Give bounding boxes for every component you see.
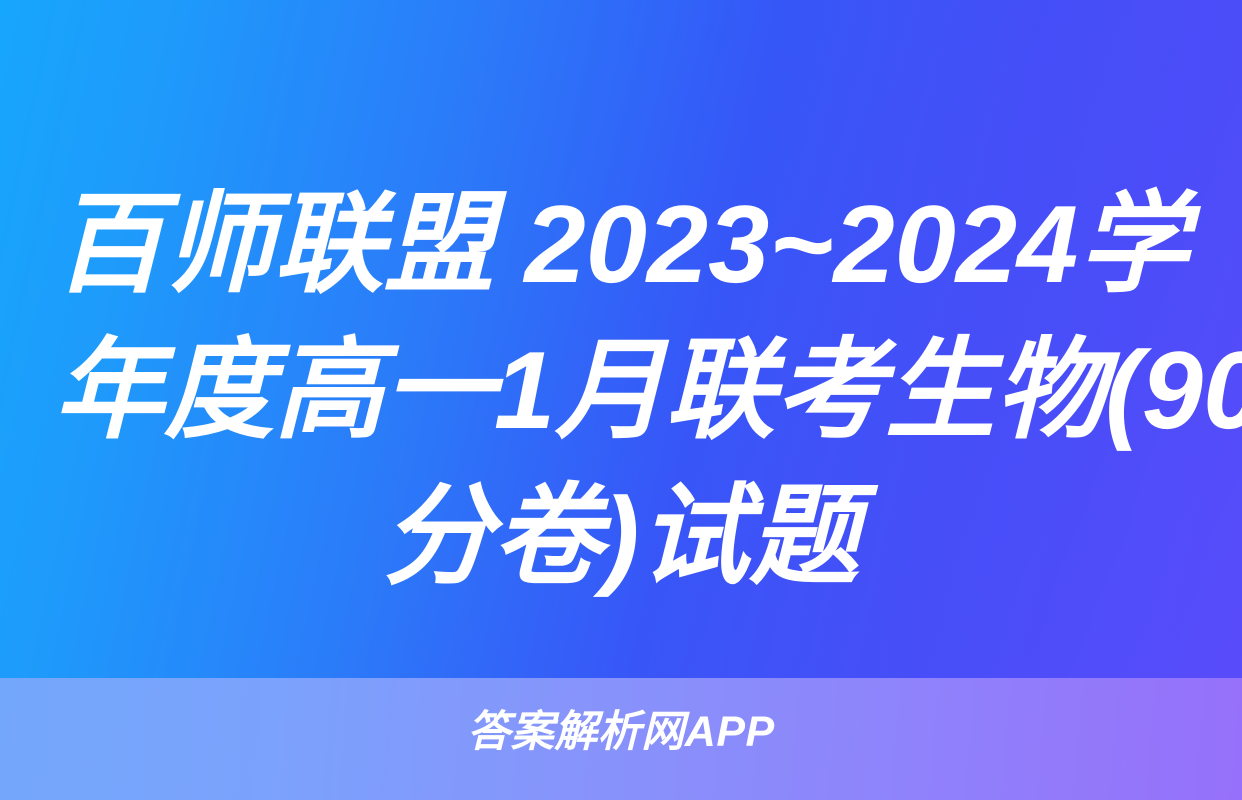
title-line-3: 分卷)试题 xyxy=(54,464,1188,610)
title-line-1: 百师联盟 2023~2024学 xyxy=(54,172,1188,318)
watermark-label: 答案解析网APP xyxy=(467,707,774,757)
exam-title-card: 百师联盟 2023~2024学 年度高一1月联考生物(90 分卷)试题 答案解析… xyxy=(0,0,1242,800)
title-line-2: 年度高一1月联考生物(90 xyxy=(54,318,1188,464)
page-title: 百师联盟 2023~2024学 年度高一1月联考生物(90 分卷)试题 xyxy=(0,172,1242,610)
watermark: 答案解析网APP xyxy=(0,707,1242,757)
